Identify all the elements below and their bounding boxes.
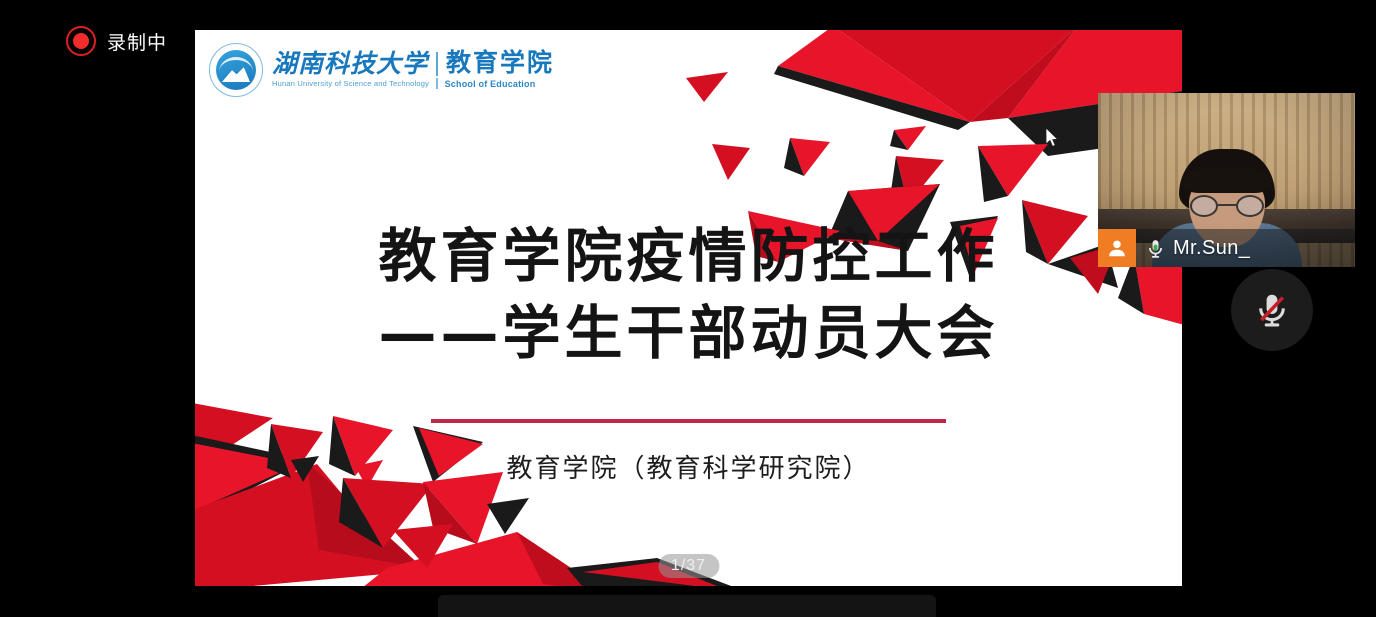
participant-video-tile[interactable]: Mr.Sun_ — [1098, 93, 1355, 267]
meeting-screen-share-view: 录制中 — [0, 0, 1376, 617]
microphone-active-icon — [1145, 238, 1166, 259]
meeting-toolbar[interactable] — [438, 595, 936, 617]
microphone-mute-button[interactable] — [1231, 269, 1313, 351]
university-crest-icon — [209, 43, 263, 97]
logo-school-cn: 教育学院 — [446, 51, 554, 76]
participant-name-label: Mr.Sun_ — [1173, 237, 1250, 260]
slide-subtitle: 教育学院（教育科学研究院） — [195, 448, 1182, 485]
logo-divider-en — [436, 78, 438, 89]
slide-title: 教育学院疫情防控工作 ——学生干部动员大会 — [195, 220, 1182, 370]
microphone-muted-icon — [1252, 290, 1292, 330]
title-line-2: ——学生干部动员大会 — [195, 297, 1182, 370]
logo-university-cn: 湖南科技大学 — [272, 51, 428, 76]
record-dot-icon — [66, 26, 96, 56]
logo-university-en: Hunan University of Science and Technolo… — [272, 79, 429, 88]
logo-school-en: School of Education — [445, 79, 536, 89]
title-line-1: 教育学院疫情防控工作 — [195, 220, 1182, 293]
page-indicator: 1/37 — [658, 554, 719, 578]
shared-slide[interactable]: 湖南科技大学 教育学院 Hunan University of Science … — [195, 30, 1182, 586]
logo-divider — [436, 52, 438, 76]
mouse-pointer-icon — [1046, 128, 1060, 148]
participant-name-bar: Mr.Sun_ — [1098, 229, 1355, 267]
participant-avatar-icon — [1098, 229, 1136, 267]
recording-indicator: 录制中 — [66, 26, 167, 56]
title-divider-rule — [431, 419, 946, 423]
recording-status-label: 录制中 — [107, 28, 167, 55]
university-logo: 湖南科技大学 教育学院 Hunan University of Science … — [209, 43, 554, 97]
